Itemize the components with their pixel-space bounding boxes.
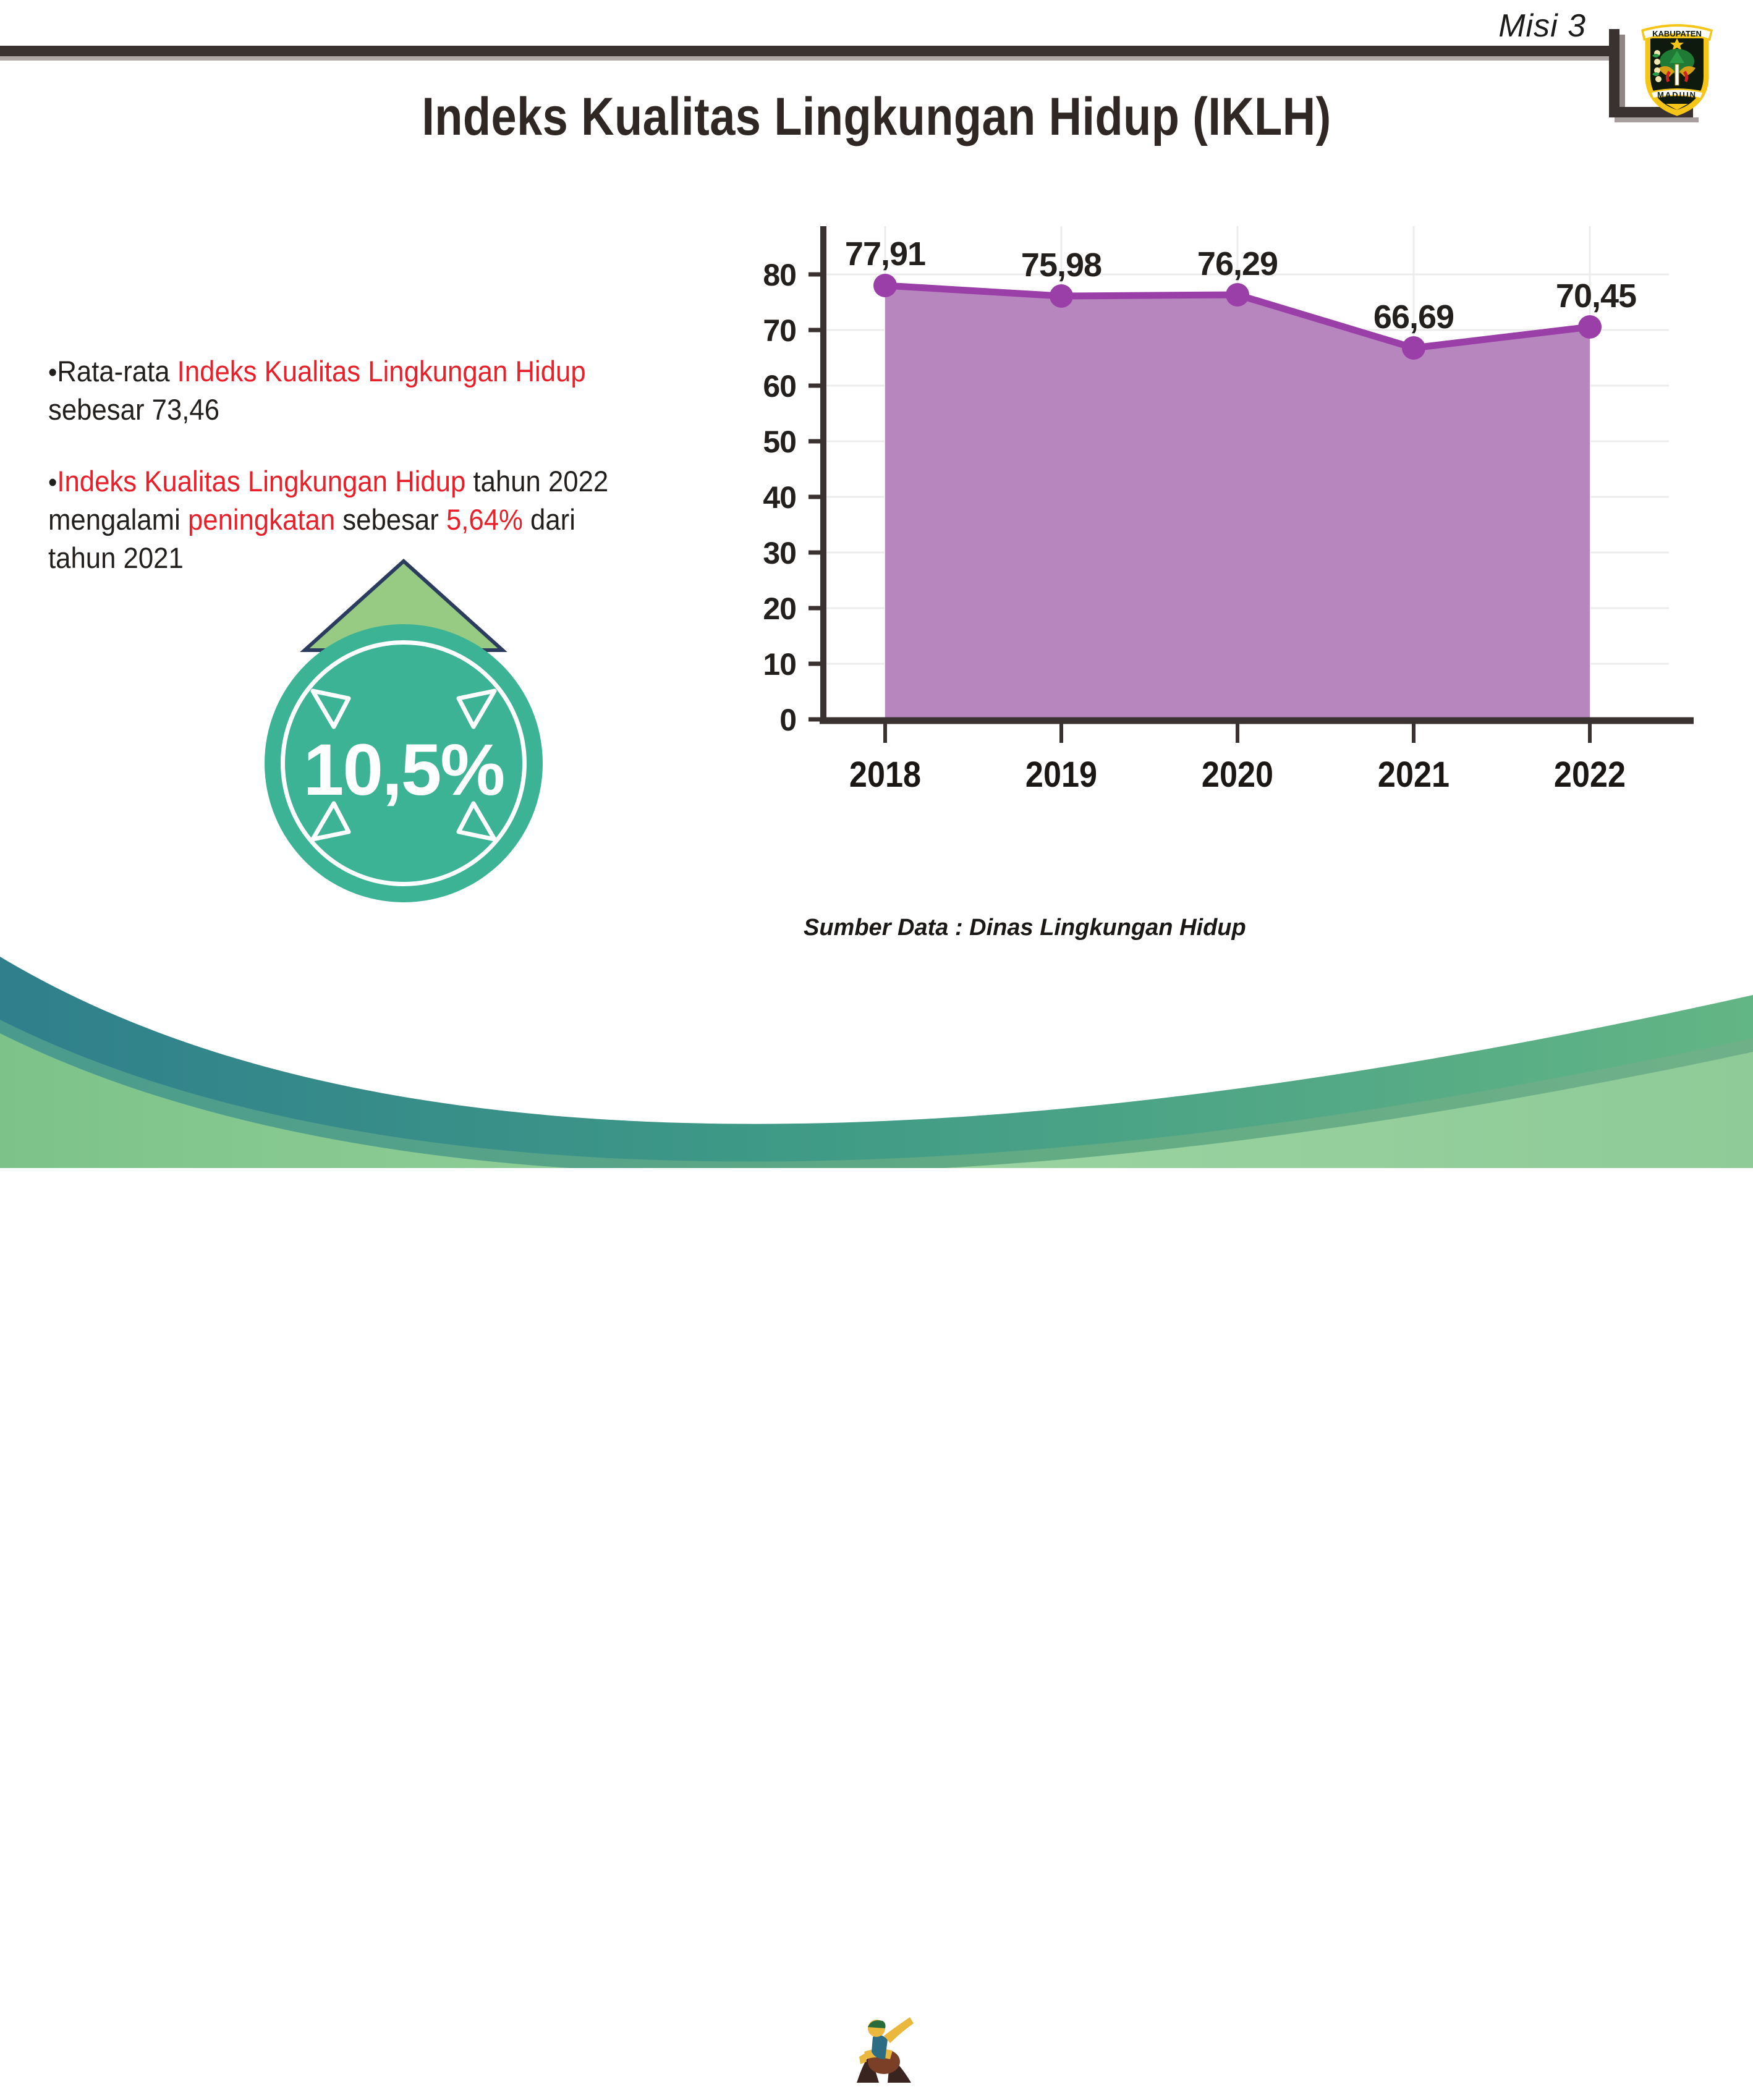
y-tick-label-50: 50 [716, 424, 796, 460]
data-label-2018: 77,91 [792, 235, 978, 273]
badge-value: 10,5% [265, 728, 543, 812]
source-note: Sumber Data : Dinas Lingkungan Hidup [804, 915, 1246, 941]
chart-area-fill [885, 286, 1590, 719]
insight-item-average: •Rata-rata Indeks Kualitas Lingkungan Hi… [48, 352, 640, 429]
x-tick-label-2020: 2020 [1171, 754, 1304, 795]
y-tick-label-80: 80 [716, 257, 796, 293]
bullet-dot-icon: • [48, 467, 57, 497]
svg-text:MADIUN: MADIUN [1657, 90, 1697, 99]
insight-average-prefix: Rata-rata [57, 355, 177, 387]
insight-average-metric: Indeks Kualitas Lingkungan Hidup [177, 355, 586, 387]
insight-growth-percent: 5,64% [446, 503, 523, 536]
y-tick-label-40: 40 [716, 480, 796, 515]
growth-badge: 10,5% [244, 556, 566, 902]
header-rule-shadow [0, 56, 1619, 61]
kabupaten-madiun-logo-icon: KABUPATEN MADIUN [1634, 15, 1720, 120]
x-tick-label-2018: 2018 [818, 754, 952, 795]
y-tick-label-30: 30 [716, 535, 796, 571]
x-tick-label-2019: 2019 [995, 754, 1128, 795]
y-tick-label-10: 10 [716, 646, 796, 682]
y-tick-label-0: 0 [716, 702, 796, 738]
y-tick-label-20: 20 [716, 591, 796, 627]
y-tick-label-60: 60 [716, 368, 796, 404]
insight-average-suffix: sebesar 73,46 [48, 393, 219, 426]
iklh-area-chart: 80 70 60 50 40 30 20 10 0 2018 2019 2020… [729, 204, 1731, 896]
data-label-2022: 70,45 [1503, 277, 1689, 315]
x-tick-label-2022: 2022 [1523, 754, 1657, 795]
page-footer: Media Infografis Data Statistik Sektoral… [0, 946, 1753, 1168]
data-label-2021: 66,69 [1321, 298, 1506, 336]
data-label-2020: 76,29 [1145, 245, 1330, 283]
insight-growth-direction: peningkatan [188, 503, 335, 536]
insight-growth-metric: Indeks Kualitas Lingkungan Hidup [57, 465, 465, 497]
page-title: Indeks Kualitas Lingkungan Hidup (IKLH) [123, 87, 1631, 148]
insight-growth-mid2: sebesar [335, 503, 446, 536]
data-label-2019: 75,98 [969, 246, 1154, 284]
y-tick-label-70: 70 [716, 313, 796, 349]
mission-label: Misi 3 [1498, 7, 1586, 44]
x-tick-label-2021: 2021 [1347, 754, 1480, 795]
svg-text:KABUPATEN: KABUPATEN [1652, 29, 1702, 38]
footer-wave-decoration [0, 946, 1753, 1168]
footer-text: Media Infografis Data Statistik Sektoral… [909, 2031, 1726, 2067]
bullet-dot-icon: • [48, 357, 57, 387]
header-rule [0, 46, 1619, 56]
